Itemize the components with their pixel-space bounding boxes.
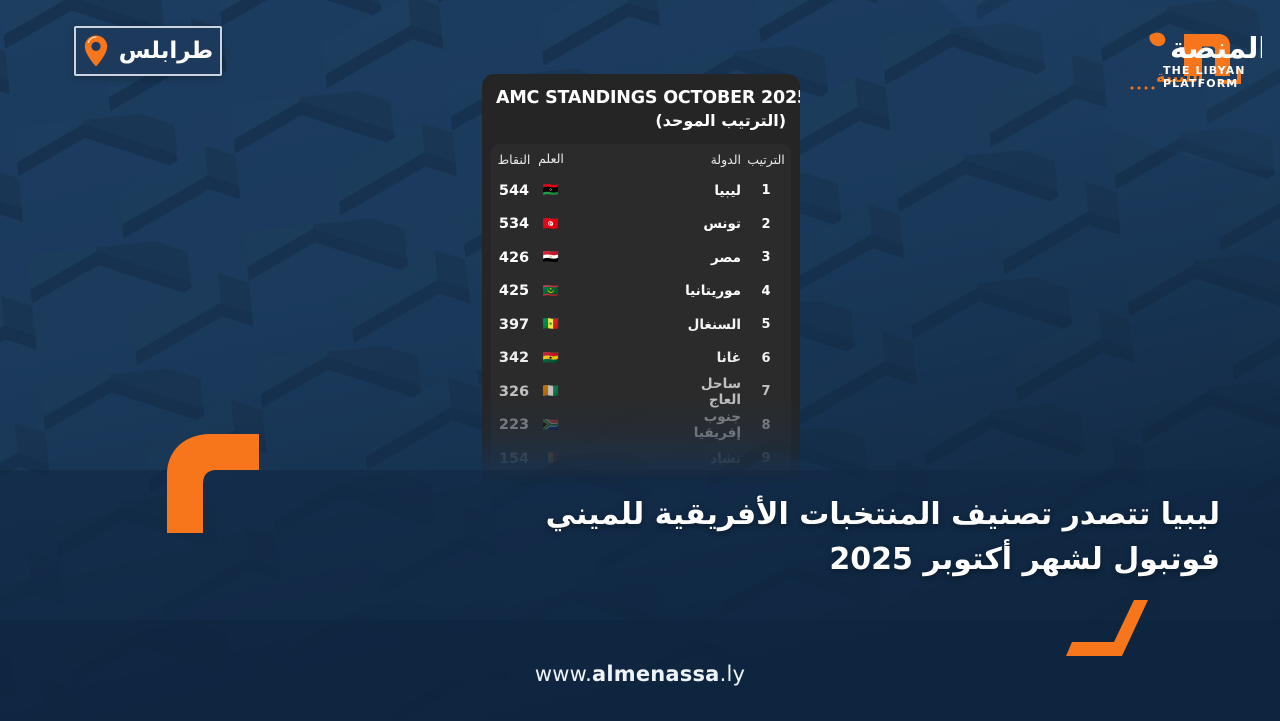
- country-flag-icon: 🇿🇦: [533, 419, 569, 432]
- column-header-rank: الترتيب: [745, 152, 787, 167]
- table-row: 397🇸🇳السنغال5: [495, 308, 787, 342]
- row-points: 544: [495, 183, 533, 199]
- table-row: 326🇨🇮ساحل العاج7: [495, 375, 787, 409]
- svg-text:THE LIBYAN: THE LIBYAN: [1163, 64, 1246, 77]
- country-flag-icon: 🇹🇩: [533, 452, 569, 465]
- country-flag-icon: 🇨🇮: [533, 385, 569, 398]
- orange-corner-tick-shape: [1062, 598, 1170, 664]
- country-flag-icon: 🇸🇳: [533, 318, 569, 331]
- row-points: 326: [495, 384, 533, 400]
- row-points: 426: [495, 250, 533, 266]
- footer-url: www.almenassa.ly: [0, 662, 1280, 686]
- standings-title-en: AMC STANDINGS OCTOBER 2025: [496, 88, 786, 108]
- row-rank: 4: [745, 284, 787, 299]
- row-points: 397: [495, 317, 533, 333]
- row-country: جنوب إفريقيا: [673, 409, 745, 441]
- row-rank: 6: [745, 351, 787, 366]
- row-country: ساحل العاج: [673, 376, 745, 408]
- headline-line-2: فوتبول لشهر أكتوبر 2025: [280, 537, 1220, 582]
- standings-card-header: AMC STANDINGS OCTOBER 2025 (الترتيب المو…: [482, 74, 800, 138]
- row-rank: 9: [745, 451, 787, 466]
- row-rank: 8: [745, 418, 787, 433]
- orange-hook-shape: [155, 430, 265, 539]
- column-header-flag: العلم: [533, 153, 569, 166]
- row-country: تشاد: [673, 451, 745, 467]
- map-pin-icon: [83, 34, 109, 68]
- brand-logo: المنصة الليبية THE LIBYAN PLATFORM: [1032, 14, 1262, 98]
- row-country: مصر: [673, 250, 745, 266]
- row-points: 425: [495, 283, 533, 299]
- standings-table: النقاط العلم الدولة الترتيب 544🇱🇾ليبيا15…: [491, 144, 791, 476]
- row-rank: 5: [745, 317, 787, 332]
- location-badge: طرابلس: [74, 26, 222, 76]
- table-row: 534🇹🇳تونس2: [495, 208, 787, 242]
- table-row: 154🇹🇩تشاد9: [495, 442, 787, 476]
- table-row: 342🇬🇭غانا6: [495, 342, 787, 376]
- row-country: السنغال: [673, 317, 745, 333]
- country-flag-icon: 🇬🇭: [533, 352, 569, 365]
- row-country: ليبيا: [673, 183, 745, 199]
- svg-text:PLATFORM: PLATFORM: [1163, 77, 1238, 90]
- column-header-country: الدولة: [673, 152, 745, 167]
- row-rank: 3: [745, 250, 787, 265]
- table-row: 544🇱🇾ليبيا1: [495, 174, 787, 208]
- row-country: تونس: [673, 216, 745, 232]
- country-flag-icon: 🇪🇬: [533, 251, 569, 264]
- standings-card: AMC STANDINGS OCTOBER 2025 (الترتيب المو…: [482, 74, 800, 486]
- footer-url-suffix: .ly: [720, 662, 746, 686]
- headline-line-1: ليبيا تتصدر تصنيف المنتخبات الأفريقية لل…: [280, 492, 1220, 537]
- row-rank: 7: [745, 384, 787, 399]
- row-points: 223: [495, 417, 533, 433]
- standings-table-body: 544🇱🇾ليبيا1534🇹🇳تونس2426🇪🇬مصر3425🇲🇷موريت…: [495, 174, 787, 476]
- row-points: 342: [495, 350, 533, 366]
- country-flag-icon: 🇱🇾: [533, 184, 569, 197]
- row-country: موريتانيا: [673, 283, 745, 299]
- row-rank: 2: [745, 217, 787, 232]
- table-row: 426🇪🇬مصر3: [495, 241, 787, 275]
- row-points: 154: [495, 451, 533, 467]
- row-rank: 1: [745, 183, 787, 198]
- footer-url-brand: almenassa: [592, 662, 720, 686]
- standings-table-header: النقاط العلم الدولة الترتيب: [495, 144, 787, 174]
- country-flag-icon: 🇹🇳: [533, 218, 569, 231]
- country-flag-icon: 🇲🇷: [533, 285, 569, 298]
- row-points: 534: [495, 216, 533, 232]
- column-header-points: النقاط: [495, 152, 533, 167]
- row-country: غانا: [673, 350, 745, 366]
- standings-title-ar: (الترتيب الموحد): [496, 111, 786, 130]
- location-badge-label: طرابلس: [119, 40, 213, 63]
- svg-text:المنصة: المنصة: [1170, 31, 1262, 65]
- table-row: 425🇲🇷موريتانيا4: [495, 275, 787, 309]
- table-row: 223🇿🇦جنوب إفريقيا8: [495, 409, 787, 443]
- headline: ليبيا تتصدر تصنيف المنتخبات الأفريقية لل…: [280, 492, 1220, 582]
- table-header-row: النقاط العلم الدولة الترتيب: [495, 144, 787, 174]
- footer-url-prefix: www.: [535, 662, 592, 686]
